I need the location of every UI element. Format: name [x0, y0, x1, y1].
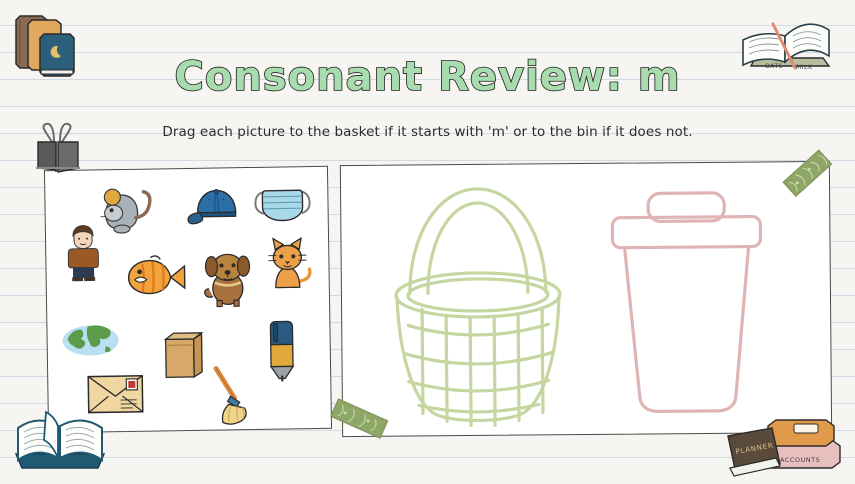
- picture-tray-panel: [44, 166, 332, 433]
- washi-tape-icon: [781, 149, 837, 201]
- binder-clip-icon: [30, 118, 88, 176]
- dropzone-basket[interactable]: [377, 174, 579, 428]
- book-label-oats: OATS: [765, 63, 783, 70]
- picture-item-man[interactable]: [64, 222, 103, 281]
- picture-item-cap[interactable]: [185, 182, 248, 229]
- picture-item-mop[interactable]: [206, 364, 259, 427]
- picture-item-paper-bag[interactable]: [157, 325, 206, 382]
- picture-item-cat[interactable]: [258, 235, 317, 298]
- book-label-accounts: ACCOUNTS: [780, 456, 820, 464]
- picture-item-dog[interactable]: [196, 246, 259, 309]
- picture-item-mouse[interactable]: [97, 179, 166, 236]
- book-stack-icon: ACCOUNTS PLANNER: [714, 406, 848, 480]
- open-book-icon: [8, 398, 112, 478]
- washi-tape-icon: [328, 395, 390, 443]
- picture-item-pen[interactable]: [259, 315, 304, 384]
- book-label-milk: MILK: [796, 64, 813, 71]
- picture-item-fish[interactable]: [120, 251, 189, 302]
- instruction-text: Drag each picture to the basket if it st…: [0, 124, 855, 140]
- dropzone-bin[interactable]: [596, 184, 778, 422]
- worksheet-page: Consonant Review: m Drag each picture to…: [0, 0, 855, 484]
- drop-zone-panel: [340, 161, 832, 437]
- page-title: Consonant Review: m: [0, 57, 855, 97]
- book-stack-icon: [10, 8, 94, 76]
- picture-item-mask[interactable]: [251, 179, 314, 226]
- picture-item-map-globe[interactable]: [59, 316, 122, 363]
- open-book-icon: OATS MILK: [733, 6, 845, 80]
